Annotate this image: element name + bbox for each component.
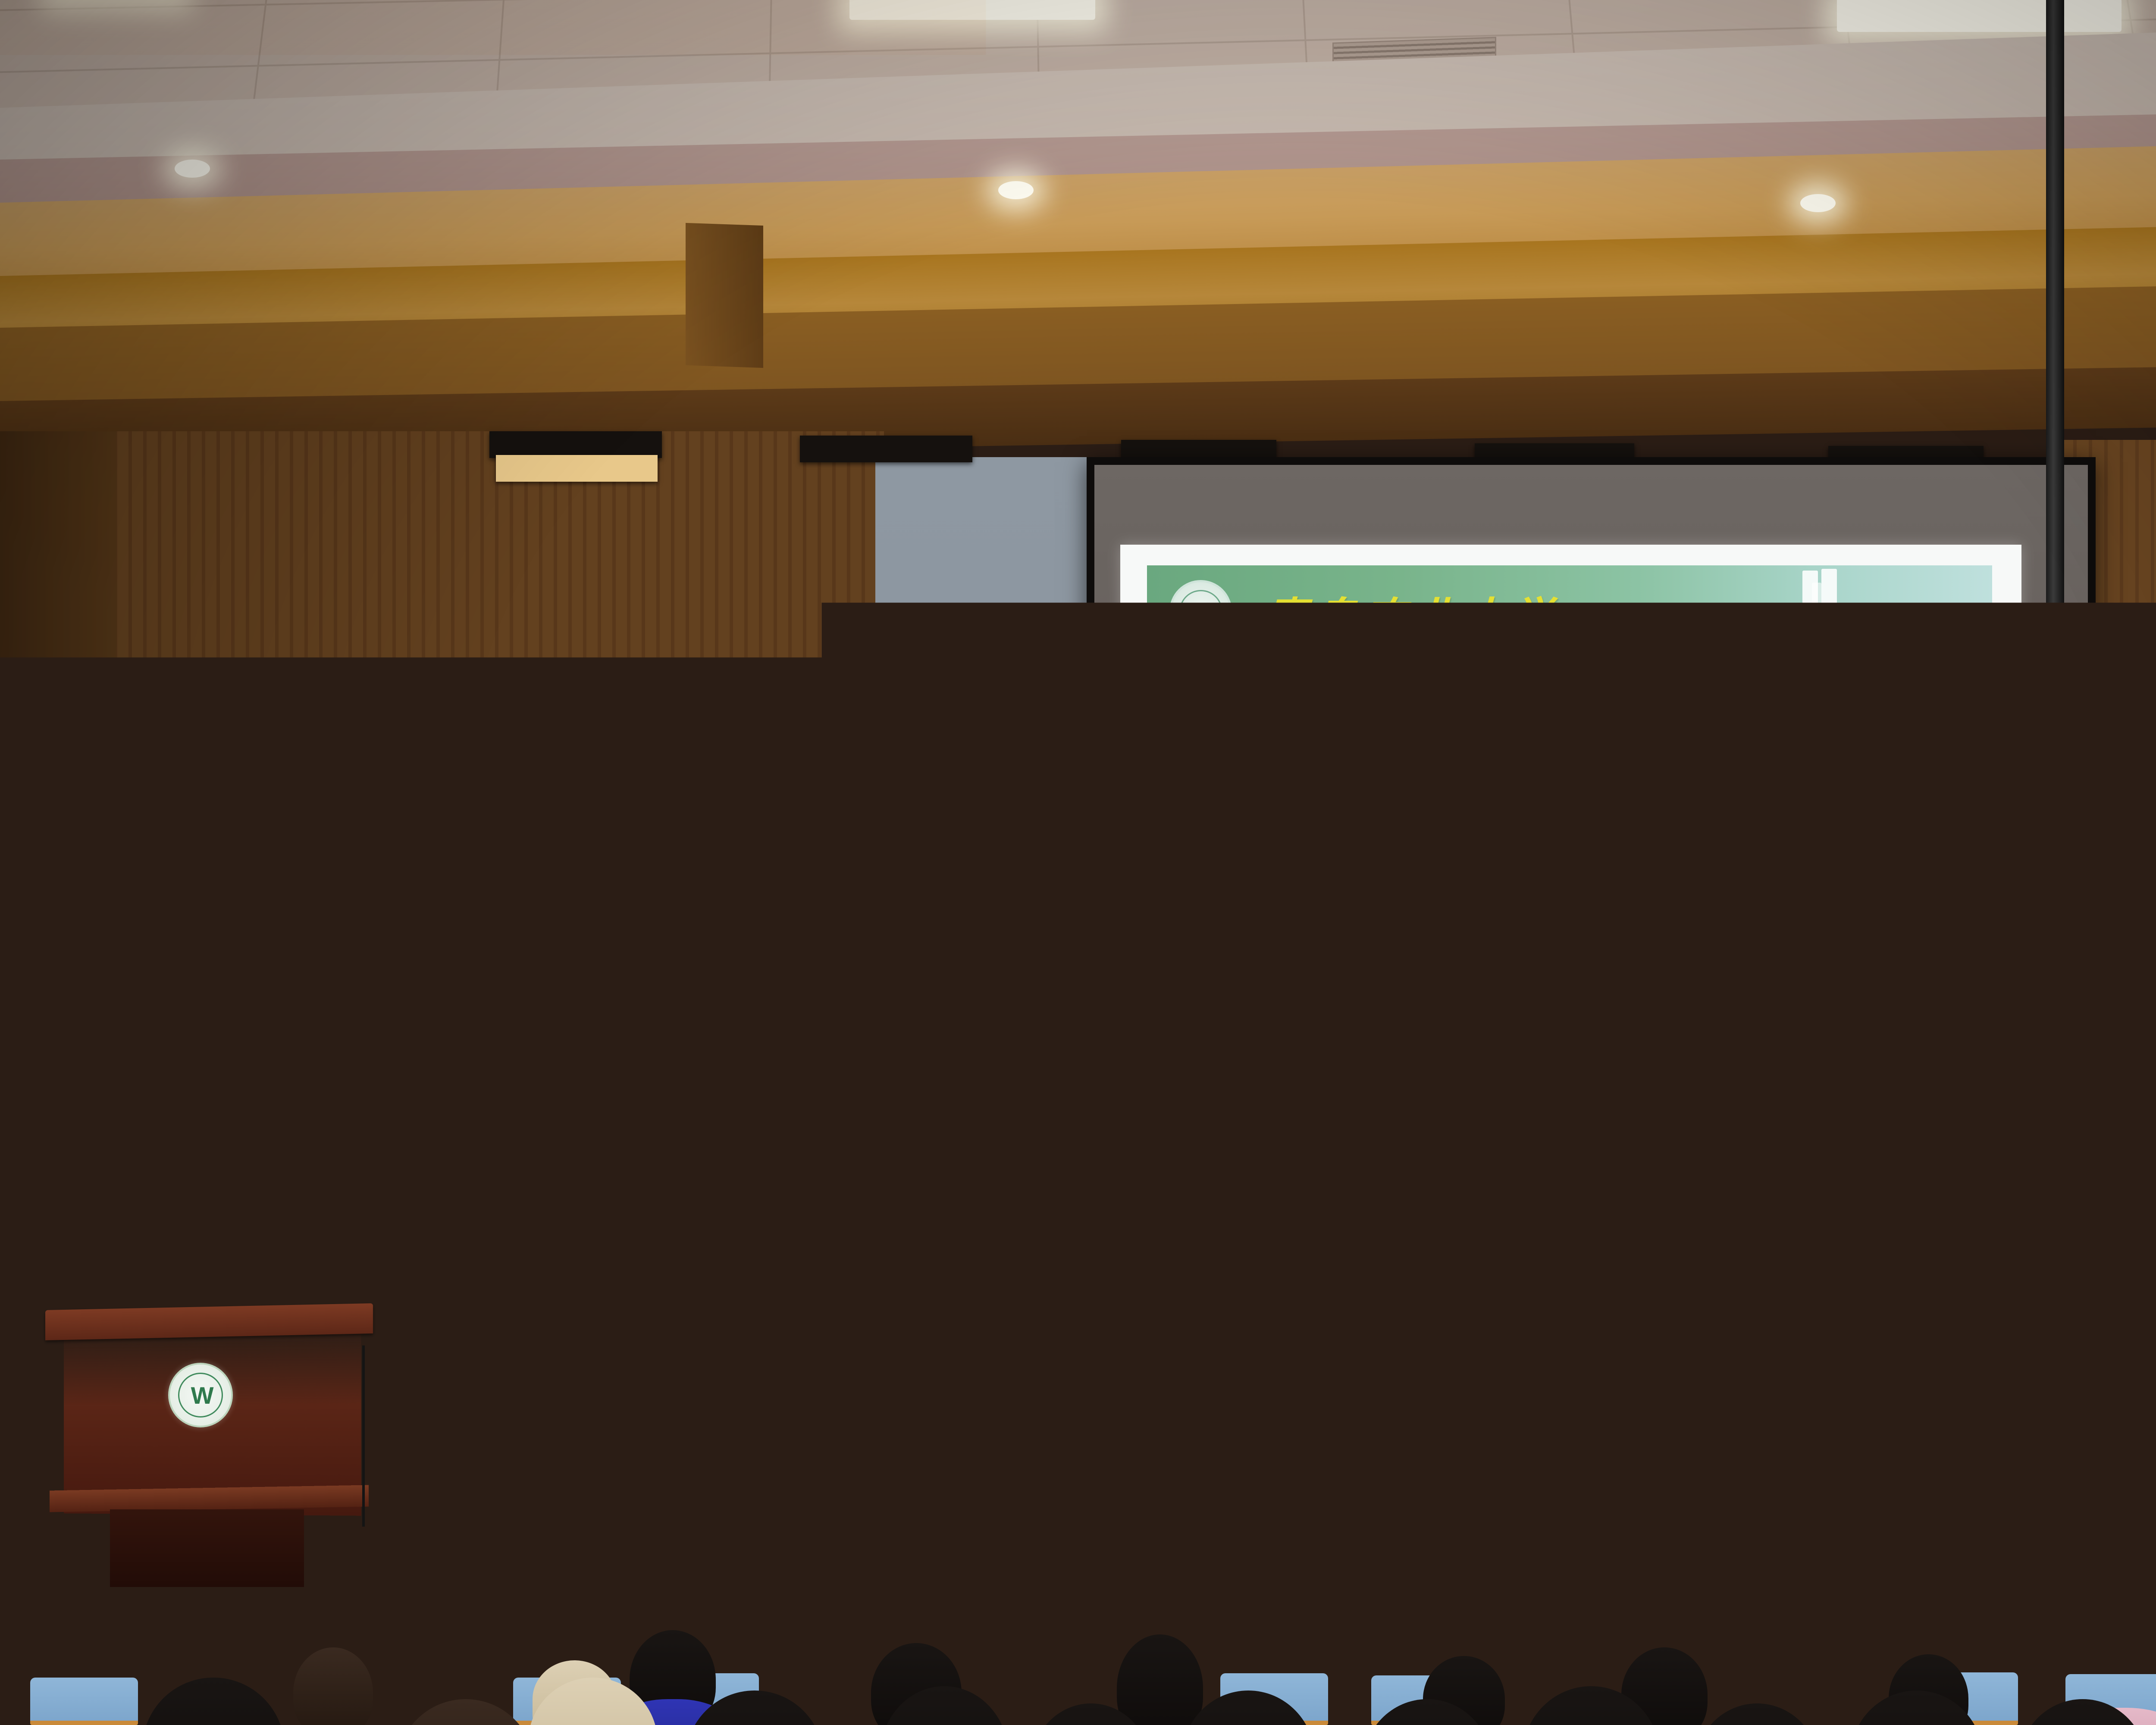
slide-title: 知识改变命运 考研铸就成功 bbox=[1120, 674, 2021, 753]
slide-subtitle-meeting: ---食品学院考研动员会--- bbox=[1120, 760, 2021, 809]
speaker-head bbox=[254, 1138, 308, 1203]
nameplate-text: 吕国莹 bbox=[1328, 1432, 1373, 1453]
water-cup bbox=[1050, 1421, 1065, 1434]
university-name-en: Qingdao Agricultural University bbox=[1266, 631, 1531, 648]
audience-head bbox=[142, 1678, 285, 1725]
projector-auto-button[interactable] bbox=[2000, 787, 2010, 794]
ceiling-projector[interactable] bbox=[1927, 742, 2156, 815]
projector-left-button[interactable] bbox=[1968, 772, 1978, 780]
projector-lens bbox=[2078, 758, 2126, 801]
campus-building-graphic bbox=[1673, 565, 1992, 658]
university-emblem-icon: W bbox=[168, 1363, 233, 1427]
recessed-downlight bbox=[1800, 194, 1836, 212]
wall-speaker-box bbox=[800, 436, 972, 462]
ceiling-beam-drop bbox=[686, 223, 763, 368]
nameplate: 吕国莹 bbox=[1323, 1418, 1378, 1460]
wall-panel-light bbox=[496, 455, 658, 482]
projector-button-panel[interactable] bbox=[1968, 758, 2012, 796]
audience-head bbox=[1117, 1634, 1203, 1725]
projector-standby-button[interactable] bbox=[1968, 787, 1978, 796]
nameplate: 宋佳 bbox=[2001, 1423, 2056, 1465]
university-seal-icon: W bbox=[1169, 580, 1232, 643]
water-cup bbox=[1759, 1424, 1775, 1437]
audience-head bbox=[1695, 1703, 1820, 1725]
wall-speaker-box bbox=[489, 431, 662, 458]
podium-cable bbox=[362, 1345, 414, 1527]
ceiling-troffer-light bbox=[1837, 0, 2122, 32]
projector-menu-button[interactable] bbox=[1984, 758, 1994, 766]
seal-glyph: W bbox=[1179, 590, 1222, 633]
projector-enter-button[interactable] bbox=[1984, 772, 1994, 782]
recessed-downlight bbox=[175, 160, 210, 178]
projector-right-button[interactable] bbox=[2000, 772, 2010, 780]
audience-area bbox=[0, 1518, 2156, 1725]
projector-vent-grille bbox=[2014, 755, 2036, 796]
nameplate-text: 孙庆杰 bbox=[1682, 1435, 1727, 1455]
stage-backdrop-shadow bbox=[875, 457, 1100, 1466]
ceiling-troffer-light bbox=[849, 0, 1095, 20]
projector-source-button[interactable] bbox=[2000, 758, 2010, 766]
presentation-slide: W 青岛农业大学 Qingdao Agricultural University… bbox=[1120, 545, 2021, 1086]
recessed-downlight bbox=[998, 181, 1034, 199]
emblem-glyph: W bbox=[178, 1373, 223, 1418]
slide-photo-caption: Qingdao Agricultural University Campus bbox=[1120, 1056, 2021, 1069]
lectern: W bbox=[45, 1307, 373, 1548]
auditorium-seat[interactable] bbox=[30, 1678, 138, 1725]
slide-campus-photo bbox=[1147, 957, 1992, 1049]
projector-down-button[interactable] bbox=[1984, 787, 1994, 794]
water-cup bbox=[1298, 1423, 1313, 1436]
audience-head bbox=[293, 1647, 373, 1725]
water-cup bbox=[2100, 1427, 2115, 1440]
nameplate: 孙庆杰 bbox=[1677, 1421, 1732, 1463]
nameplate-text: 宋佳 bbox=[2013, 1437, 2043, 1458]
projector-mount-arm bbox=[1949, 729, 2156, 739]
slide-subtitle-presenter: 主讲人：孙庆杰 bbox=[1120, 812, 2021, 863]
laptop-brand-label: Lenovo bbox=[115, 1284, 143, 1292]
eyeglasses-icon bbox=[255, 1161, 308, 1163]
projector-focus-ring[interactable] bbox=[2130, 763, 2156, 794]
auditorium-photo: W 青岛农业大学 Qingdao Agricultural University… bbox=[0, 0, 2156, 1725]
projector-mount-pole bbox=[2046, 0, 2064, 716]
podium-microphone-head bbox=[304, 1207, 320, 1221]
conference-chair bbox=[1199, 1283, 1384, 1438]
projection-screen: W 青岛农业大学 Qingdao Agricultural University… bbox=[1087, 457, 2096, 1195]
projector-power-button[interactable] bbox=[1968, 758, 1978, 768]
slide-header-banner: W 青岛农业大学 Qingdao Agricultural University bbox=[1147, 565, 1992, 658]
slide-date: 2019.06.03 bbox=[1120, 868, 2021, 913]
